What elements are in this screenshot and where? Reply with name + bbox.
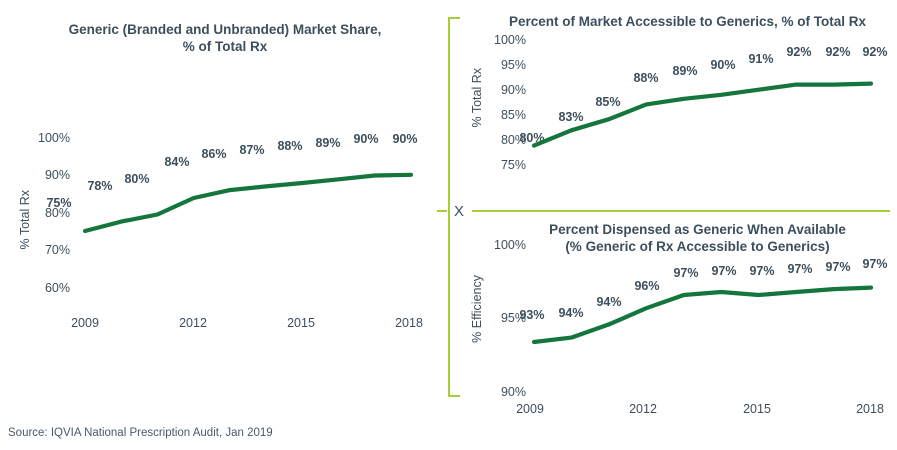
- series-line-dispensed-efficiency: [0, 0, 897, 450]
- chart-figure: Generic (Branded and Unbranded) Market S…: [0, 0, 897, 450]
- source-footnote: Source: IQVIA National Prescription Audi…: [8, 427, 273, 439]
